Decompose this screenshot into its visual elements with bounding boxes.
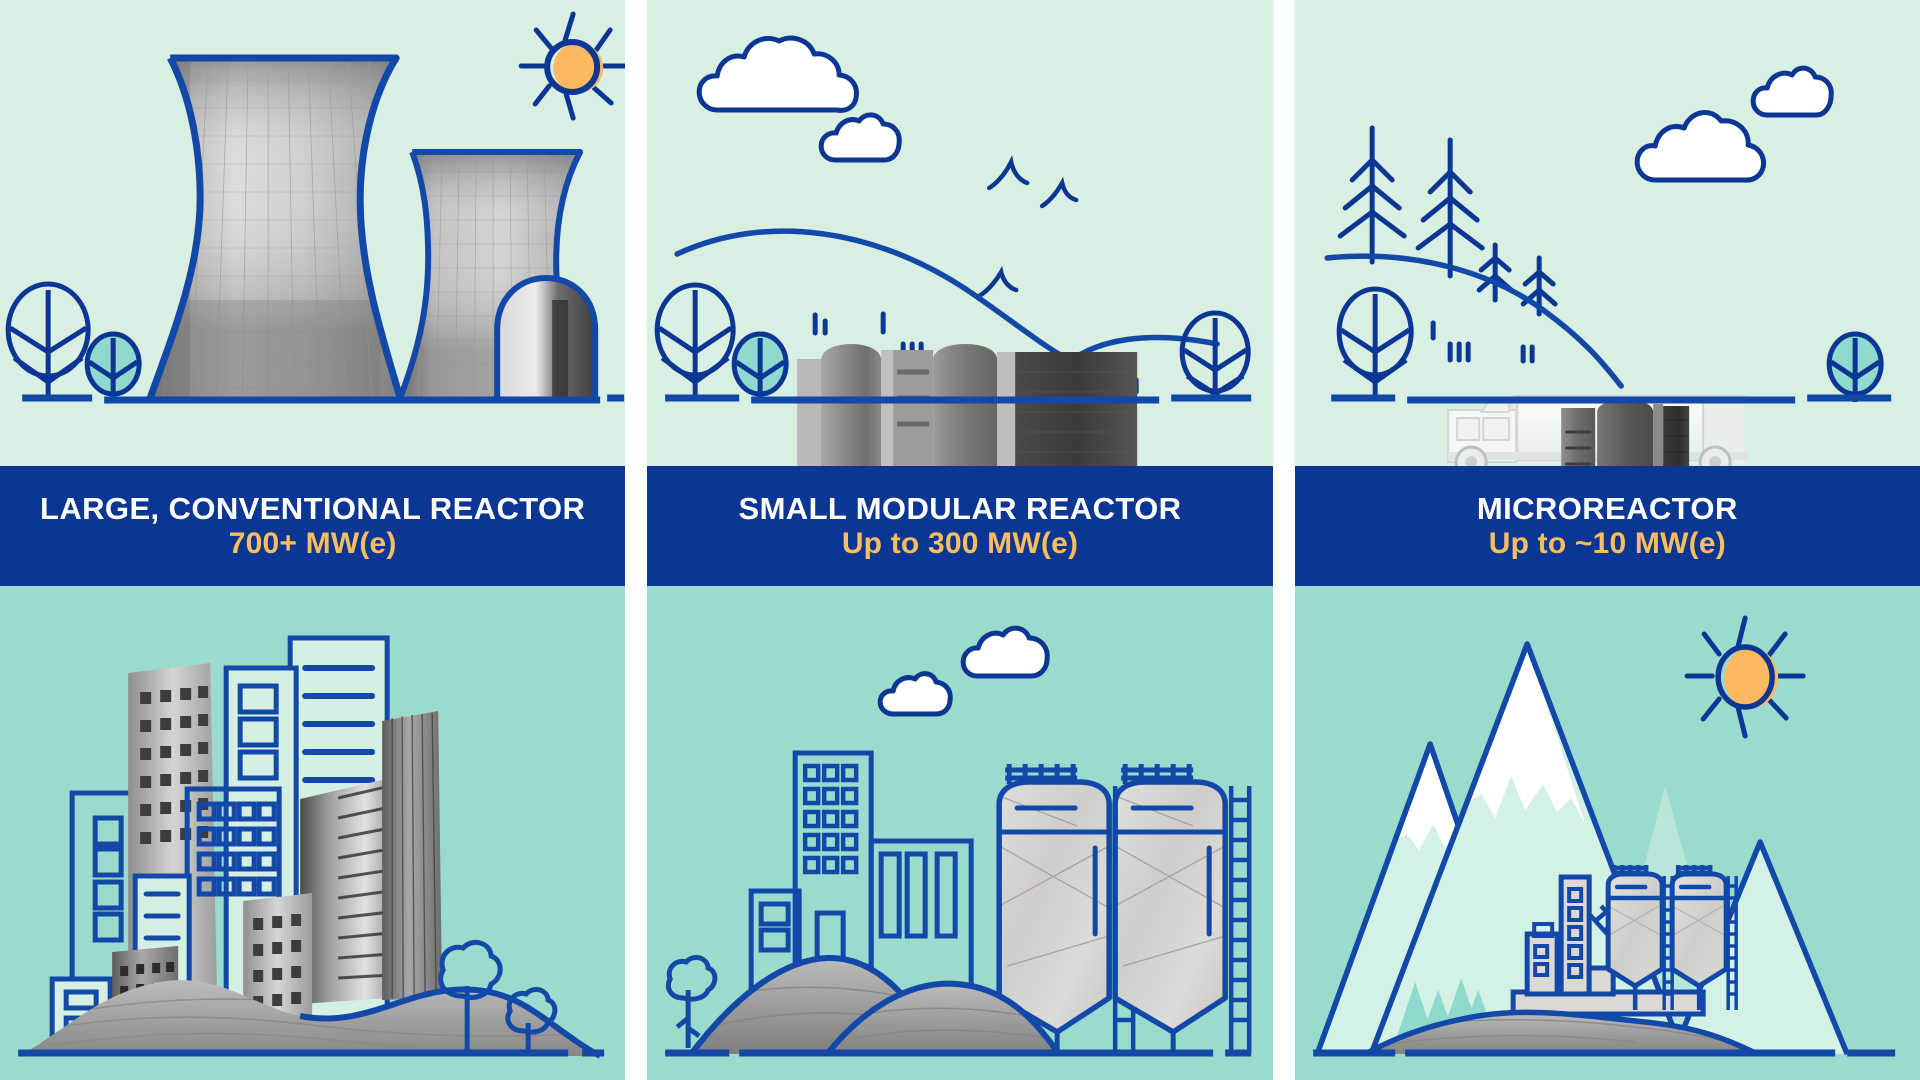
scene-nuclear-plant-cooling-towers	[0, 0, 625, 466]
panel-capacity: Up to ~10 MW(e)	[1489, 528, 1726, 560]
cooling-tower-illustration	[0, 0, 625, 466]
rain-tick-marks	[1433, 323, 1532, 361]
panel-microreactor: MICROREACTOR Up to ~10 MW(e)	[1295, 0, 1920, 1080]
microreactor-modules	[1561, 400, 1689, 466]
city-skyline-illustration	[0, 586, 625, 1080]
sun-icon	[1687, 618, 1803, 736]
label-band-microreactor: MICROREACTOR Up to ~10 MW(e)	[1295, 466, 1920, 586]
scene-large-city-skyline	[0, 586, 625, 1080]
panel-capacity: Up to 300 MW(e)	[842, 528, 1078, 560]
label-band-small-modular-reactor: SMALL MODULAR REACTOR Up to 300 MW(e)	[647, 466, 1272, 586]
cloud-large	[699, 38, 856, 110]
containment-dome	[495, 276, 597, 400]
panel-title: SMALL MODULAR REACTOR	[739, 493, 1182, 526]
bird-3	[979, 272, 1016, 296]
scene-remote-mountain-site	[1295, 586, 1920, 1080]
scene-town-with-smr-silos	[647, 586, 1272, 1080]
panel-large-conventional-reactor: LARGE, CONVENTIONAL REACTOR 700+ MW(e)	[0, 0, 625, 1080]
truck-microreactor-illustration	[1295, 0, 1920, 466]
pine-tree-3	[1479, 245, 1511, 300]
ground-line	[22, 398, 624, 400]
highrise-photo-4	[382, 711, 442, 1000]
ground-line	[665, 398, 1251, 400]
cloud-large	[963, 628, 1047, 676]
tree-outline	[1339, 289, 1411, 400]
infographic-board: LARGE, CONVENTIONAL REACTOR 700+ MW(e)	[0, 0, 1920, 1080]
ladder-right	[1231, 786, 1249, 1053]
sun-icon	[521, 14, 625, 118]
reactor-module-block	[797, 344, 1137, 466]
tree-outline	[8, 284, 88, 400]
tree-teal	[734, 334, 786, 402]
scene-smr-module-field	[647, 0, 1272, 466]
panel-title: LARGE, CONVENTIONAL REACTOR	[40, 493, 585, 526]
pine-tree-1	[1340, 128, 1404, 262]
bird-2	[1042, 183, 1076, 206]
highrise-photo-3	[300, 778, 390, 1004]
ground-line	[1331, 398, 1891, 400]
cloud-small	[821, 115, 899, 160]
tree-outline	[657, 285, 733, 400]
cloud-small	[880, 674, 950, 714]
label-band-large-conventional-reactor: LARGE, CONVENTIONAL REACTOR 700+ MW(e)	[0, 466, 625, 586]
pine-trees	[1340, 128, 1555, 314]
silo-right	[1111, 764, 1249, 1053]
cloud-large	[1637, 113, 1763, 181]
panel-capacity: 700+ MW(e)	[229, 528, 397, 560]
tree-right	[1182, 313, 1248, 400]
hill-arc	[1327, 256, 1621, 386]
smr-module-illustration	[647, 0, 1272, 466]
pine-tree-2	[1418, 140, 1482, 276]
cooling-tower-large	[140, 55, 410, 400]
panel-title: MICROREACTOR	[1477, 493, 1738, 526]
mountain-site-illustration	[1295, 586, 1920, 1080]
birds	[979, 162, 1076, 296]
tree-teal	[87, 334, 139, 402]
town-silos-illustration	[647, 586, 1272, 1080]
scene-truck-transporting-microreactor	[1295, 0, 1920, 466]
cloud-small	[1753, 68, 1831, 115]
panel-small-modular-reactor: SMALL MODULAR REACTOR Up to 300 MW(e)	[647, 0, 1272, 1080]
bird-1	[989, 162, 1027, 188]
tree-teal	[1829, 334, 1881, 402]
